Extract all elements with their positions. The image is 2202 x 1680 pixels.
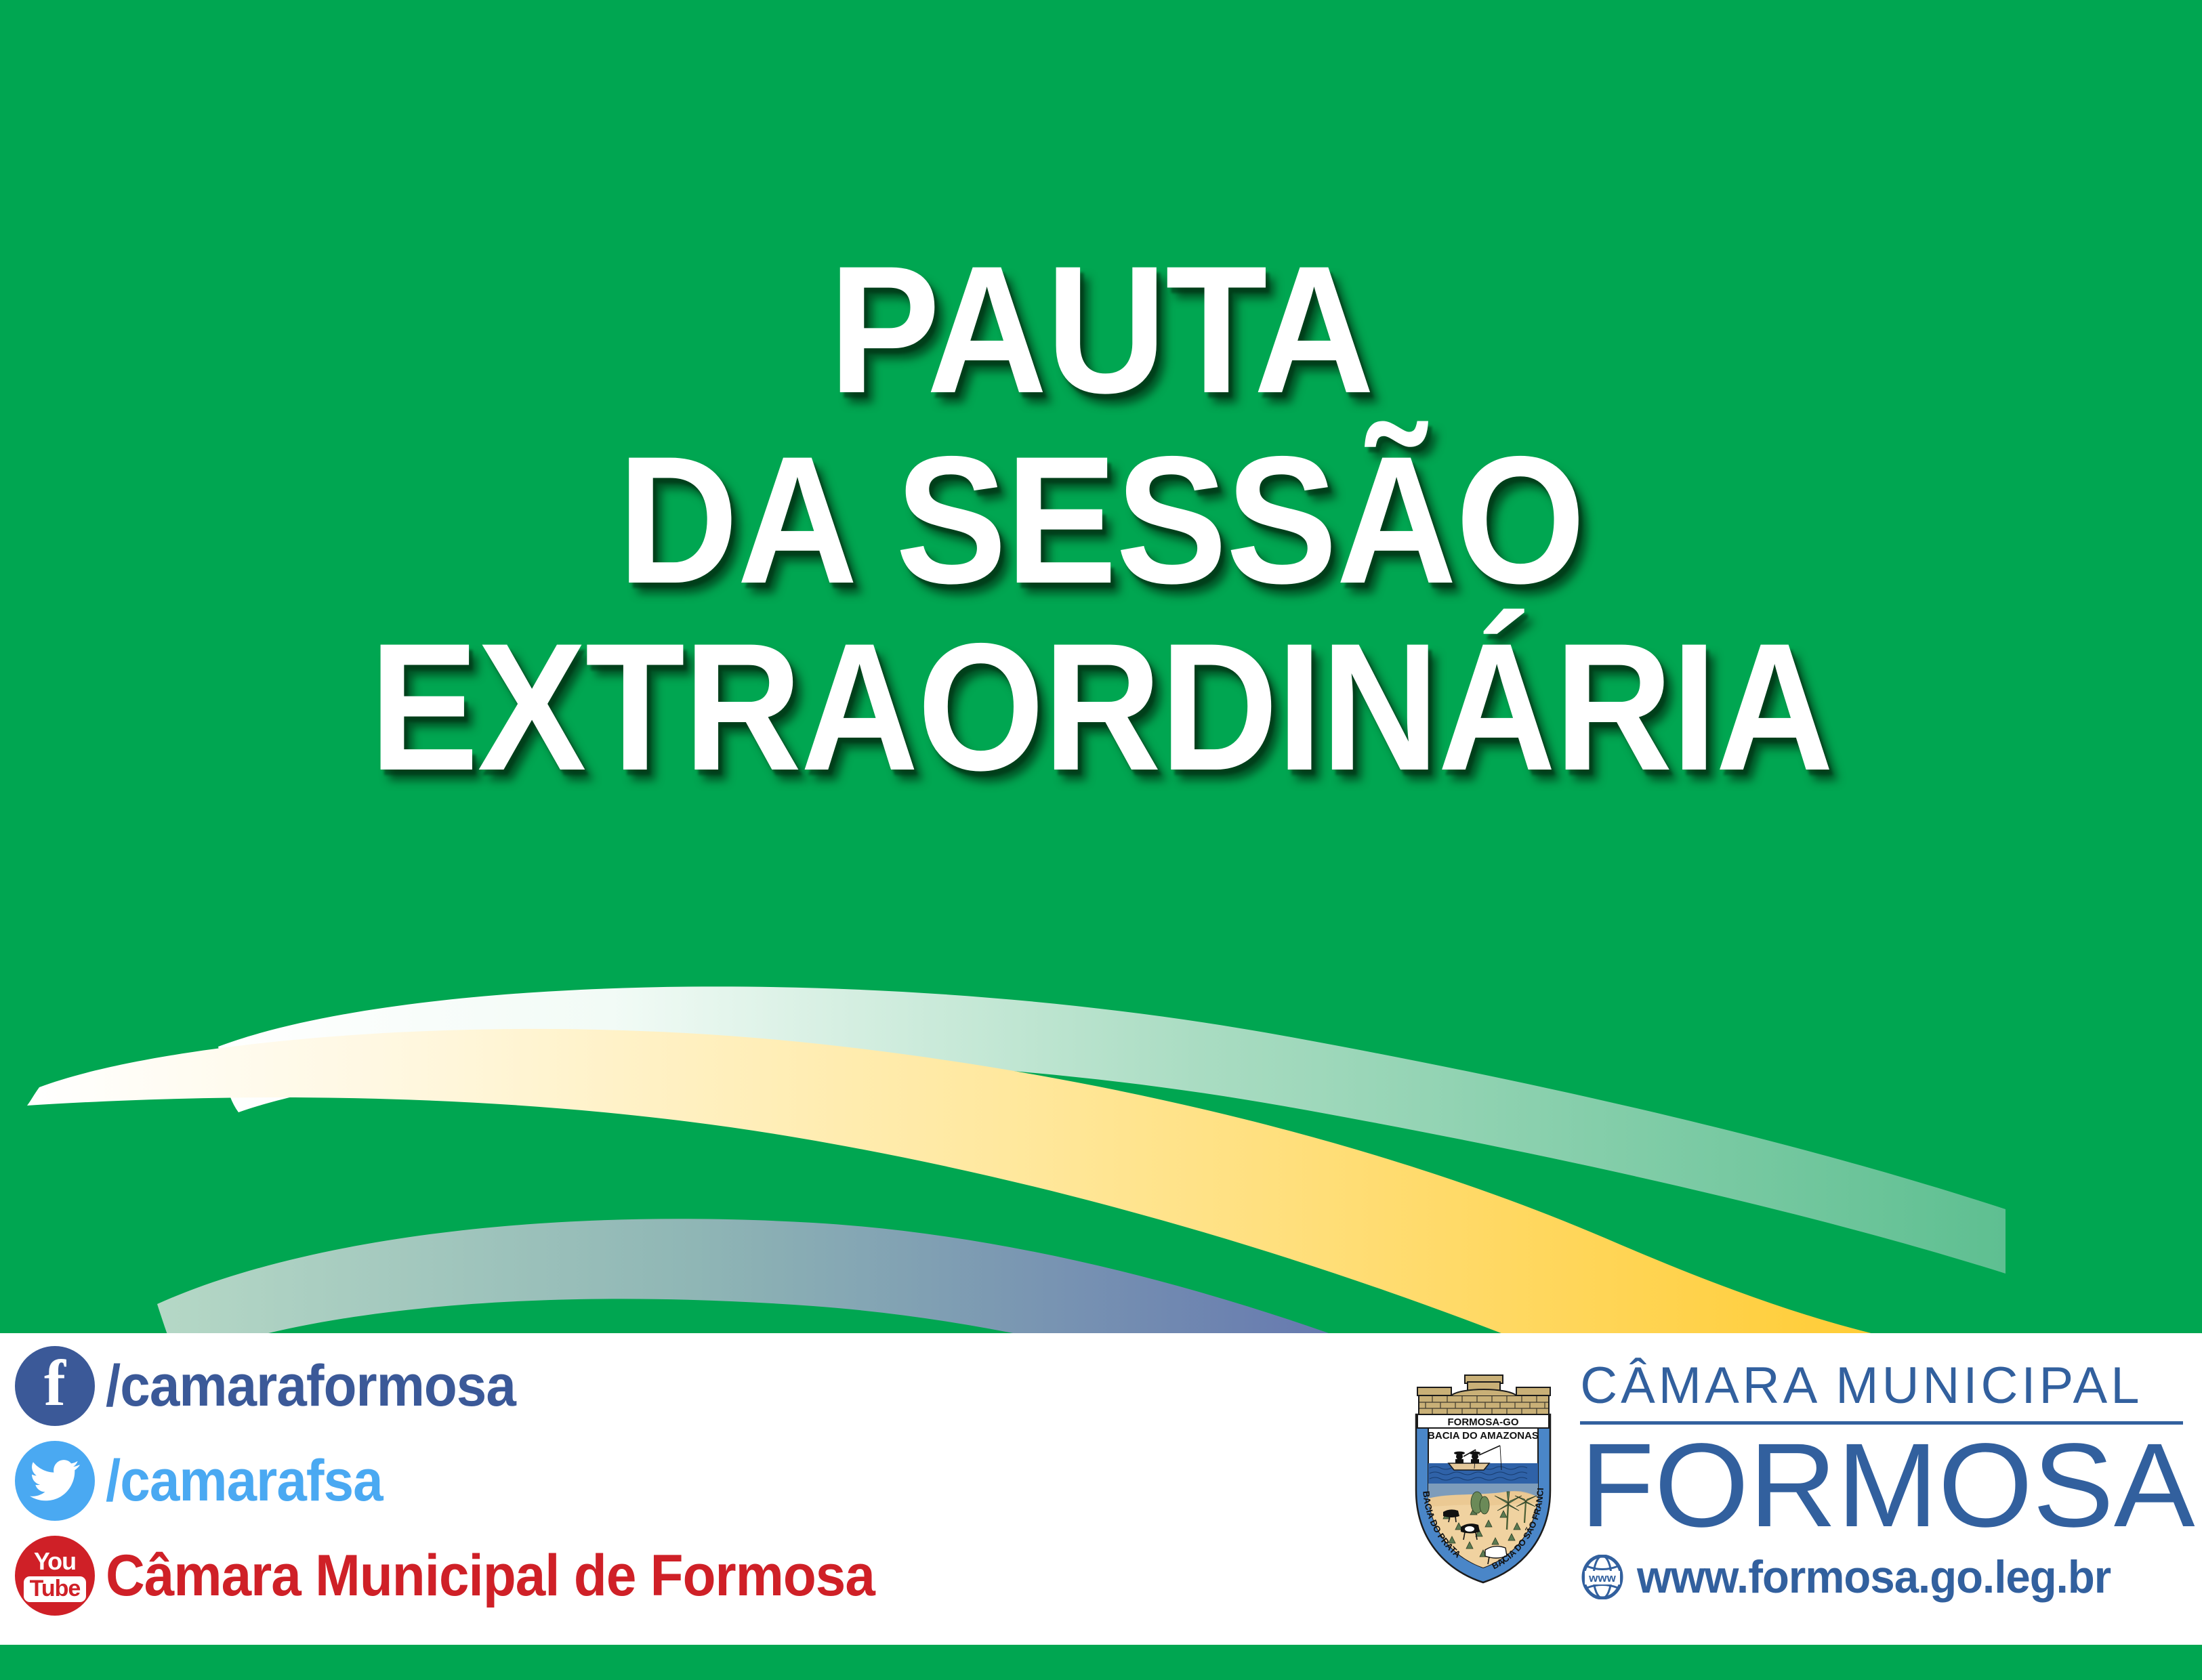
facebook-handle[interactable]: /camaraformosa — [106, 1353, 516, 1420]
website-row[interactable]: www www.formosa.go.leg.br — [1580, 1551, 2183, 1603]
youtube-icon[interactable]: You Tube — [15, 1536, 95, 1616]
social-row-facebook[interactable]: f /camaraformosa — [15, 1339, 1031, 1433]
logo-city-name: FORMOSA — [1580, 1431, 2195, 1541]
social-row-youtube[interactable]: You Tube Câmara Municipal de Formosa — [15, 1528, 1031, 1623]
social-links-list: f /camaraformosa /camarafsa You Tube — [15, 1339, 1031, 1623]
youtube-channel-name[interactable]: Câmara Municipal de Formosa — [106, 1542, 875, 1610]
decorative-swoosh — [0, 935, 2202, 1341]
bottom-green-strip — [0, 1645, 2202, 1680]
shield-city-state-text: FORMOSA-GO — [1448, 1416, 1519, 1428]
twitter-handle[interactable]: /camarafsa — [106, 1448, 383, 1515]
facebook-f-glyph: f — [44, 1351, 66, 1416]
camara-logo: FORMOSA-GO BACIA DO AMAZONAS — [1405, 1345, 2183, 1603]
website-url[interactable]: www.formosa.go.leg.br — [1637, 1551, 2111, 1603]
footer-bar: f /camaraformosa /camarafsa You Tube — [0, 1333, 2202, 1645]
youtube-you-text: You — [34, 1549, 76, 1574]
coat-of-arms-shield: FORMOSA-GO BACIA DO AMAZONAS — [1405, 1362, 1561, 1585]
shield-crown — [1417, 1375, 1550, 1414]
social-row-twitter[interactable]: /camarafsa — [15, 1433, 1031, 1528]
shield-band-amazonas-text: BACIA DO AMAZONAS — [1428, 1430, 1539, 1442]
twitter-icon[interactable] — [15, 1441, 95, 1521]
youtube-wordmark: You Tube — [24, 1549, 87, 1602]
youtube-tube-text: Tube — [24, 1576, 87, 1602]
globe-www-text: www — [1588, 1572, 1616, 1584]
logo-wordmark: CÂMARA MUNICIPAL FORMOSA www www.formosa… — [1580, 1345, 2183, 1603]
globe-www-icon: www — [1580, 1555, 1625, 1599]
poster-canvas: PAUTA DA SESSÃO EXTRAORDINÁRIA — [0, 0, 2202, 1680]
twitter-bird-glyph — [30, 1460, 80, 1502]
facebook-icon[interactable]: f — [15, 1346, 95, 1426]
logo-org-line: CÂMARA MUNICIPAL — [1580, 1360, 2183, 1412]
